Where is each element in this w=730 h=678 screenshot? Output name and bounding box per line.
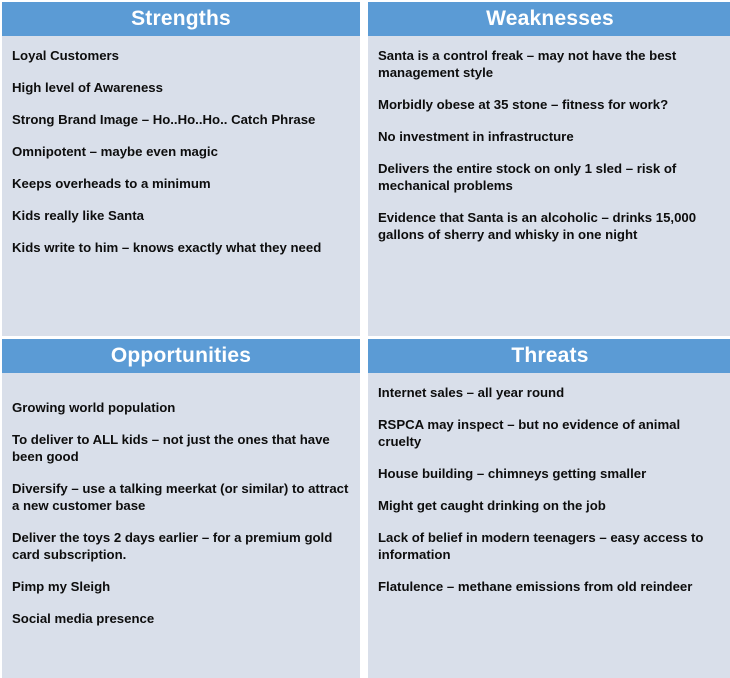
list-item: Internet sales – all year round	[378, 384, 722, 401]
quadrant-opportunities-title: Opportunities	[2, 339, 360, 373]
quadrant-weaknesses: Weaknesses Santa is a control freak – ma…	[368, 2, 730, 336]
list-item: High level of Awareness	[12, 79, 350, 96]
list-item: Growing world population	[12, 399, 350, 416]
list-item: Santa is a control freak – may not have …	[378, 47, 722, 81]
vertical-gutter-bottom	[360, 339, 368, 678]
list-item: Kids write to him – knows exactly what t…	[12, 239, 350, 256]
list-item: Pimp my Sleigh	[12, 578, 350, 595]
quadrant-opportunities: Opportunities Growing world populationTo…	[2, 339, 360, 678]
quadrant-strengths-body: Loyal CustomersHigh level of AwarenessSt…	[2, 36, 360, 336]
quadrant-threats-title: Threats	[368, 339, 730, 373]
list-item: Lack of belief in modern teenagers – eas…	[378, 529, 722, 563]
quadrant-weaknesses-body: Santa is a control freak – may not have …	[368, 36, 730, 336]
list-item: Omnipotent – maybe even magic	[12, 143, 350, 160]
list-item: RSPCA may inspect – but no evidence of a…	[378, 416, 722, 450]
list-item: Deliver the toys 2 days earlier – for a …	[12, 529, 350, 563]
list-item: Evidence that Santa is an alcoholic – dr…	[378, 209, 722, 243]
quadrant-weaknesses-title: Weaknesses	[368, 2, 730, 36]
list-item: Flatulence – methane emissions from old …	[378, 578, 722, 595]
list-item: Kids really like Santa	[12, 207, 350, 224]
list-item: No investment in infrastructure	[378, 128, 722, 145]
list-item: Social media presence	[12, 610, 350, 627]
list-item: House building – chimneys getting smalle…	[378, 465, 722, 482]
quadrant-threats-body: Internet sales – all year roundRSPCA may…	[368, 373, 730, 678]
vertical-gutter-top	[360, 2, 368, 336]
list-item: Strong Brand Image – Ho..Ho..Ho.. Catch …	[12, 111, 350, 128]
quadrant-threats: Threats Internet sales – all year roundR…	[368, 339, 730, 678]
list-item: Keeps overheads to a minimum	[12, 175, 350, 192]
list-item: To deliver to ALL kids – not just the on…	[12, 431, 350, 465]
list-item: Diversify – use a talking meerkat (or si…	[12, 480, 350, 514]
list-item: Morbidly obese at 35 stone – fitness for…	[378, 96, 722, 113]
swot-analysis-grid: Strengths Loyal CustomersHigh level of A…	[0, 0, 730, 676]
quadrant-strengths: Strengths Loyal CustomersHigh level of A…	[2, 2, 360, 336]
list-item: Might get caught drinking on the job	[378, 497, 722, 514]
list-item: Delivers the entire stock on only 1 sled…	[378, 160, 722, 194]
list-item: Loyal Customers	[12, 47, 350, 64]
quadrant-strengths-title: Strengths	[2, 2, 360, 36]
quadrant-opportunities-body: Growing world populationTo deliver to AL…	[2, 373, 360, 678]
